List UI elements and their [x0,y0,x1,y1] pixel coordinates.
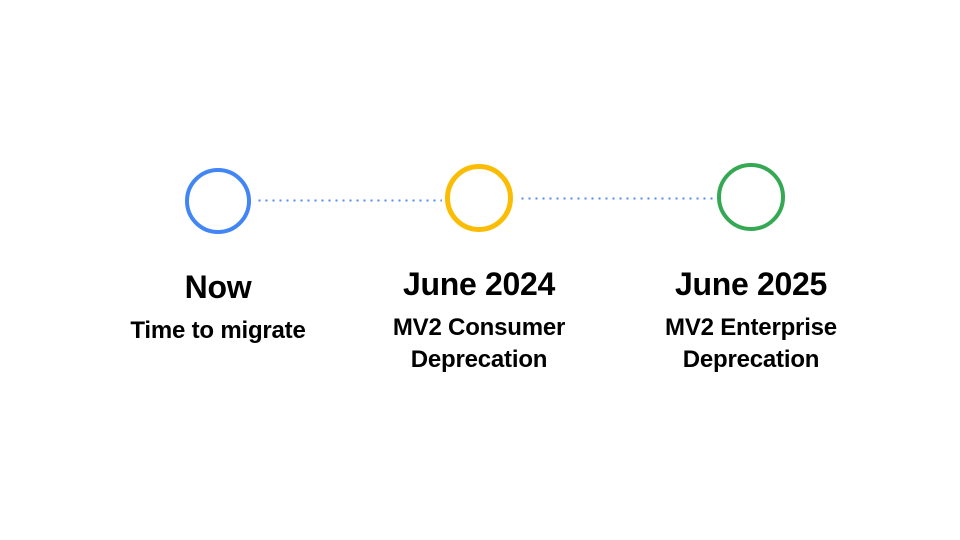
circle-outline-icon-now [185,168,251,234]
timeline-milestone-now: Now Time to migrate [68,160,368,347]
milestone-subtitle-june-2025: MV2 Enterprise Deprecation [601,312,901,376]
milestone-subtitle-june-2024: MV2 Consumer Deprecation [329,312,629,376]
circle-outline-icon-june-2024 [445,164,513,232]
circle-outline-icon-june-2025 [717,163,785,231]
milestone-subtitle-now: Time to migrate [68,315,368,347]
timeline-milestone-june-2024: June 2024 MV2 Consumer Deprecation [329,160,629,376]
timeline-milestone-june-2025: June 2025 MV2 Enterprise Deprecation [601,160,901,376]
timeline-diagram: Now Time to migrate June 2024 MV2 Consum… [0,0,960,540]
milestone-title-june-2025: June 2025 [601,267,901,301]
milestone-title-now: Now [68,270,368,304]
milestone-title-june-2024: June 2024 [329,267,629,301]
